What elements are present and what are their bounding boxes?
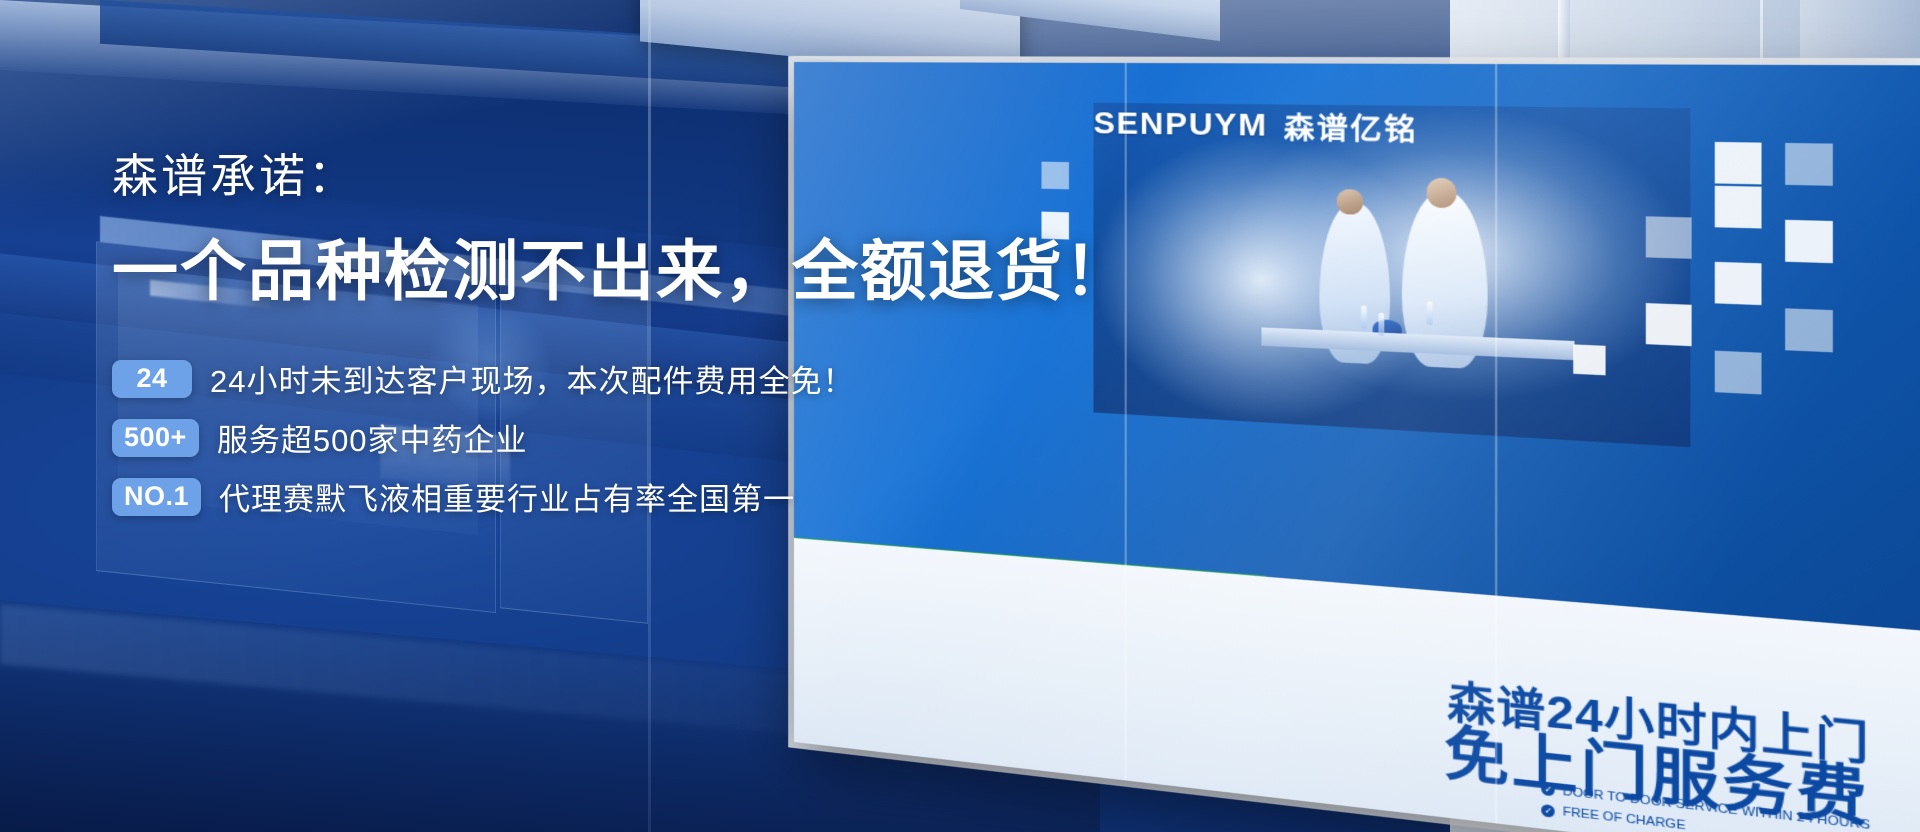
badge-24: 24 (112, 360, 192, 398)
badge-500plus: 500+ (112, 419, 199, 457)
promo-copy: 森谱承诺： 一个品种检测不出来，全额退货！ 24 24小时未到达客户现场，本次配… (112, 140, 1122, 519)
lab-vial-3 (1426, 302, 1433, 325)
badge-no1: NO.1 (112, 478, 201, 516)
bullet-text-24: 24小时未到达客户现场，本次配件费用全免！ (210, 356, 854, 401)
mosaic-square (1573, 344, 1605, 375)
lab-photo (1093, 103, 1689, 448)
mosaic-square (1646, 304, 1692, 347)
list-item: NO.1 代理赛默飞液相重要行业占有率全国第一 (112, 474, 1122, 519)
bullet-text-500plus: 服务超500家中药企业 (217, 415, 528, 460)
mosaic-square (1715, 185, 1762, 228)
logo-en-text: SENPUYM (1093, 105, 1268, 143)
scene: SENPUYM 森谱亿铭 森谱24小时内上门 免上门服务费 ✓ DOOR TO … (0, 0, 1920, 832)
check-icon: ✓ (1542, 783, 1556, 797)
promo-eyebrow: 森谱承诺： (112, 140, 1122, 206)
list-item: 500+ 服务超500家中药企业 (112, 415, 1122, 460)
lab-vial-1 (1360, 305, 1367, 328)
billboard-seam-2 (1495, 64, 1497, 823)
promo-headline: 一个品种检测不出来，全额退货！ (112, 218, 1122, 314)
list-item: 24 24小时未到达客户现场，本次配件费用全免！ (112, 356, 1122, 401)
mosaic-square (1715, 350, 1762, 394)
mosaic-square (1646, 217, 1692, 260)
mosaic-square (1785, 142, 1833, 185)
mosaic-square (1715, 142, 1762, 184)
scientist-head-left (1337, 189, 1363, 215)
billboard-logo: SENPUYM 森谱亿铭 (1093, 103, 1418, 149)
scientist-head-right (1426, 178, 1456, 208)
check-icon: ✓ (1542, 804, 1556, 818)
logo-cn-text: 森谱亿铭 (1284, 105, 1418, 149)
lab-vial-2 (1378, 313, 1385, 336)
bullet-text-no1: 代理赛默飞液相重要行业占有率全国第一 (219, 474, 795, 519)
promo-bullet-list: 24 24小时未到达客户现场，本次配件费用全免！ 500+ 服务超500家中药企… (112, 356, 1122, 519)
mosaic-square (1785, 309, 1833, 353)
billboard-seam-1 (1125, 63, 1127, 781)
mosaic-square (1715, 262, 1762, 305)
mosaic-square (1785, 220, 1833, 263)
